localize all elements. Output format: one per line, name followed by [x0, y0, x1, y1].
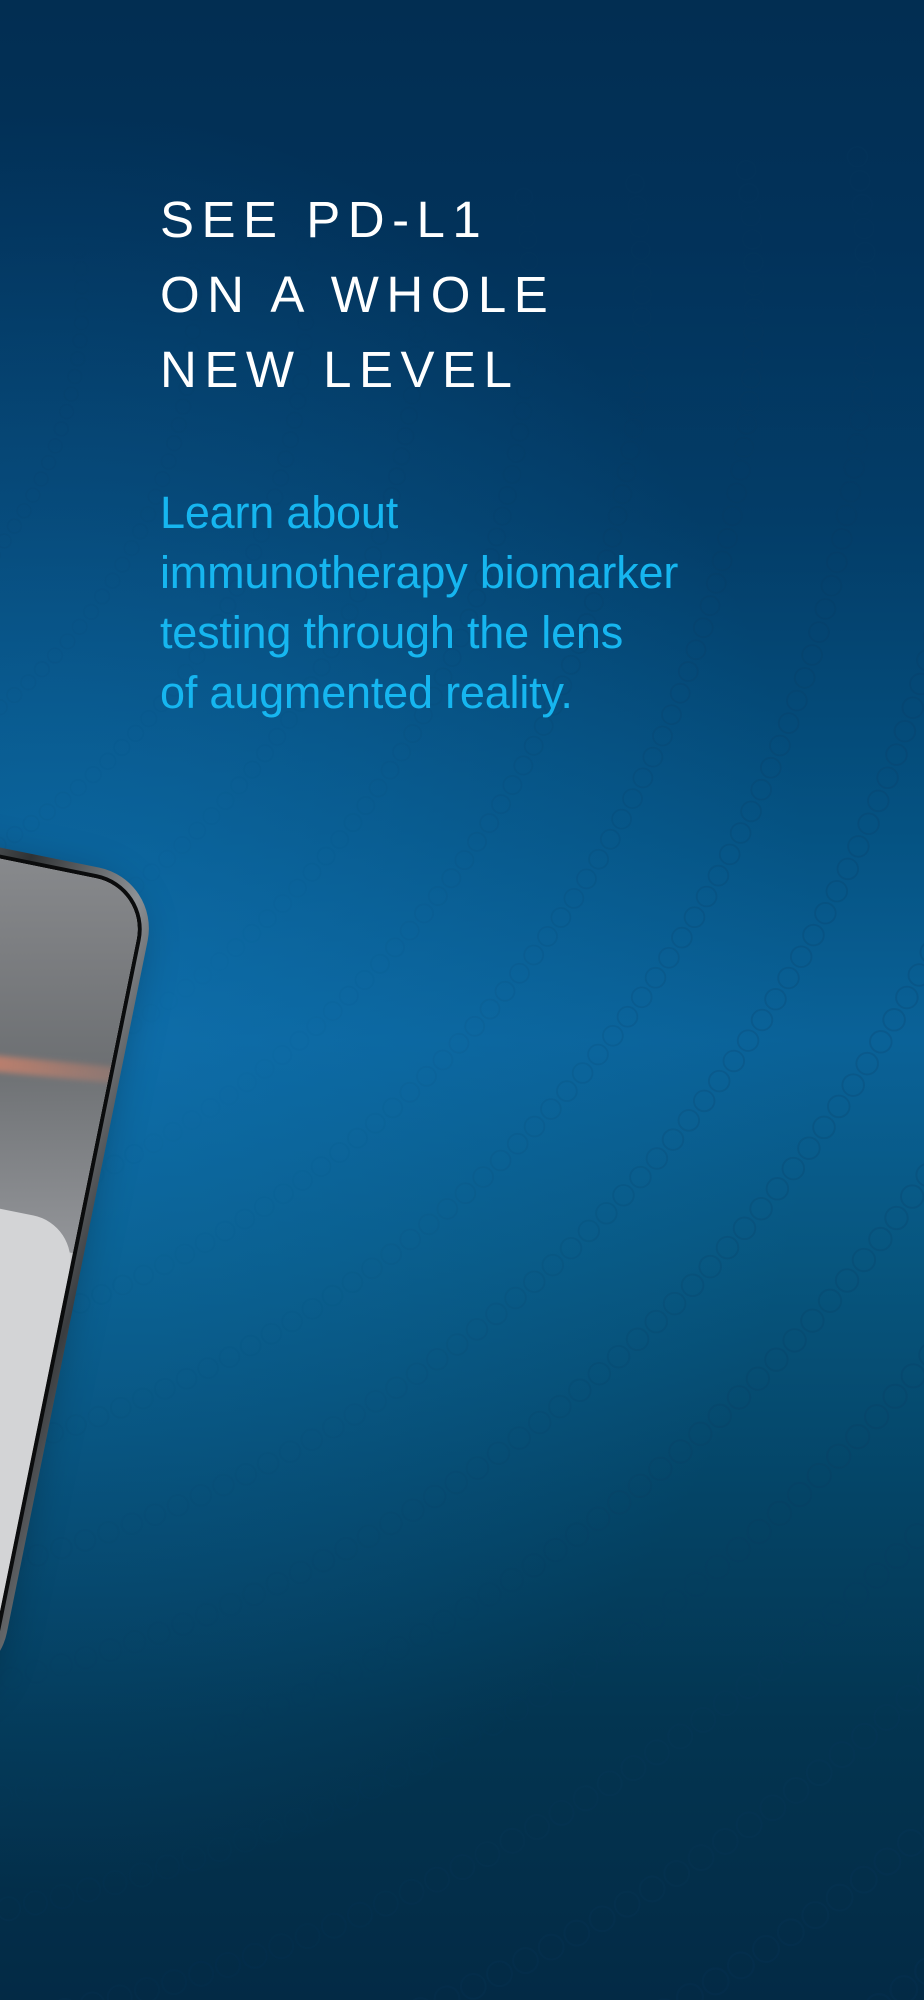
phone-mock: as ism, on of T pe of y PD-L1 oid cells.… — [0, 794, 160, 1693]
headline-line-2: ON A WHOLE — [160, 257, 860, 332]
phone-bezel: as ism, on of T pe of y PD-L1 oid cells.… — [0, 803, 152, 1686]
phone-body: as ism, on of T pe of y PD-L1 oid cells.… — [0, 794, 160, 1693]
hero-canvas: SEE PD-L1 ON A WHOLE NEW LEVEL Learn abo… — [0, 0, 924, 2000]
subheading-line-3: testing through the lens — [160, 603, 850, 663]
ar-camera-feed — [0, 807, 147, 1253]
subheading-line-1: Learn about — [160, 483, 850, 543]
subheading: Learn about immunotherapy biomarker test… — [160, 483, 850, 723]
hero-copy: SEE PD-L1 ON A WHOLE NEW LEVEL Learn abo… — [160, 182, 860, 723]
headline-line-1: SEE PD-L1 — [160, 182, 860, 257]
subheading-line-4: of augmented reality. — [160, 663, 850, 723]
info-card-line: as — [0, 1205, 29, 1309]
subheading-line-2: immunotherapy biomarker — [160, 543, 850, 603]
headline-line-3: NEW LEVEL — [160, 332, 860, 407]
phone-screen: as ism, on of T pe of y PD-L1 oid cells.… — [0, 807, 147, 1680]
info-card-body: as ism, on of T pe of y PD-L1 oid cells. — [0, 1205, 29, 1544]
